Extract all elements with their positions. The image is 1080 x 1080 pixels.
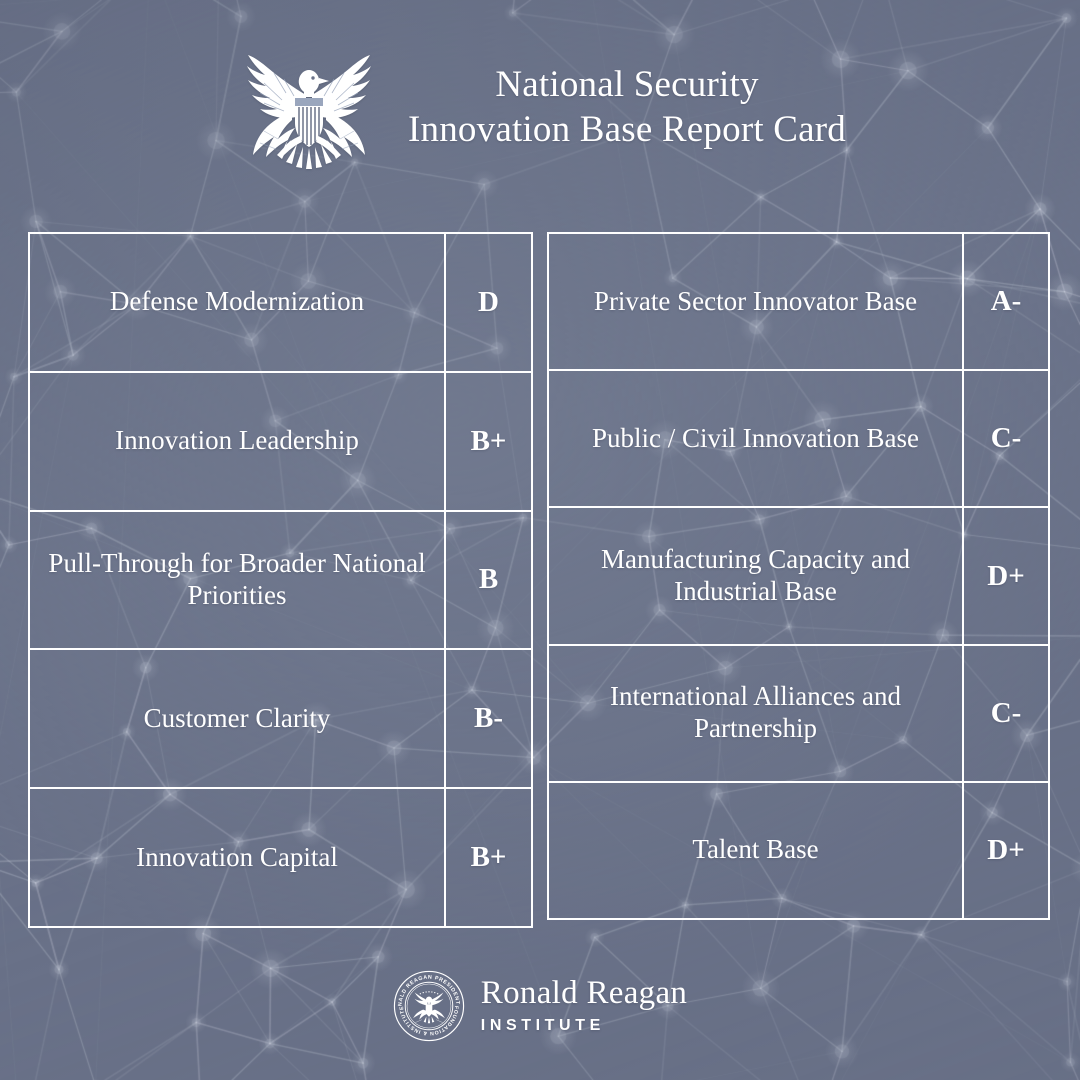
brand-name: Ronald Reagan xyxy=(481,977,687,1010)
table-row: Public / Civil Innovation Base C- xyxy=(549,371,1048,508)
table-row: Innovation Capital B+ xyxy=(30,789,531,926)
category-grade: B+ xyxy=(446,373,531,510)
category-label: International Alliances and Partnership xyxy=(549,646,964,781)
category-label: Private Sector Innovator Base xyxy=(549,234,964,369)
report-card-page: National Security Innovation Base Report… xyxy=(0,0,1080,1080)
category-grade: B+ xyxy=(446,789,531,926)
category-grade: B xyxy=(446,512,531,649)
page-title-line-2: Innovation Base Report Card xyxy=(408,108,846,153)
table-row: Pull-Through for Broader National Priori… xyxy=(30,512,531,651)
category-label: Customer Clarity xyxy=(30,650,446,787)
category-label: Manufacturing Capacity and Industrial Ba… xyxy=(549,508,964,643)
page-header: National Security Innovation Base Report… xyxy=(0,0,1080,215)
table-row: Manufacturing Capacity and Industrial Ba… xyxy=(549,508,1048,645)
page-title-line-1: National Security xyxy=(408,63,846,108)
page-footer: RONALD REAGAN PRESIDENTIAL FOUNDATION & … xyxy=(0,962,1080,1050)
brand-subtitle: INSTITUTE xyxy=(481,1017,687,1035)
category-label: Public / Civil Innovation Base xyxy=(549,371,964,506)
category-label: Innovation Capital xyxy=(30,789,446,926)
category-grade: D xyxy=(446,234,531,371)
category-label: Talent Base xyxy=(549,783,964,918)
category-grade: A- xyxy=(964,234,1048,369)
table-row: International Alliances and Partnership … xyxy=(549,646,1048,783)
category-label: Defense Modernization xyxy=(30,234,446,371)
report-card-table-right: Private Sector Innovator Base A- Public … xyxy=(547,232,1050,920)
category-grade: C- xyxy=(964,646,1048,781)
category-grade: C- xyxy=(964,371,1048,506)
table-row: Defense Modernization D xyxy=(30,234,531,373)
category-label: Innovation Leadership xyxy=(30,373,446,510)
report-card-table-left: Defense Modernization D Innovation Leade… xyxy=(28,232,533,928)
table-row: Customer Clarity B- xyxy=(30,650,531,789)
table-row: Innovation Leadership B+ xyxy=(30,373,531,512)
category-label: Pull-Through for Broader National Priori… xyxy=(30,512,446,649)
category-grade: D+ xyxy=(964,783,1048,918)
ronald-reagan-presidential-foundation-seal-icon: RONALD REAGAN PRESIDENTIAL FOUNDATION & … xyxy=(393,970,465,1042)
category-grade: B- xyxy=(446,650,531,787)
brand-lockup: Ronald Reagan INSTITUTE xyxy=(481,977,687,1035)
table-row: Private Sector Innovator Base A- xyxy=(549,234,1048,371)
table-row: Talent Base D+ xyxy=(549,783,1048,918)
page-title: National Security Innovation Base Report… xyxy=(408,63,846,153)
american-eagle-crest-icon xyxy=(234,51,384,173)
category-grade: D+ xyxy=(964,508,1048,643)
